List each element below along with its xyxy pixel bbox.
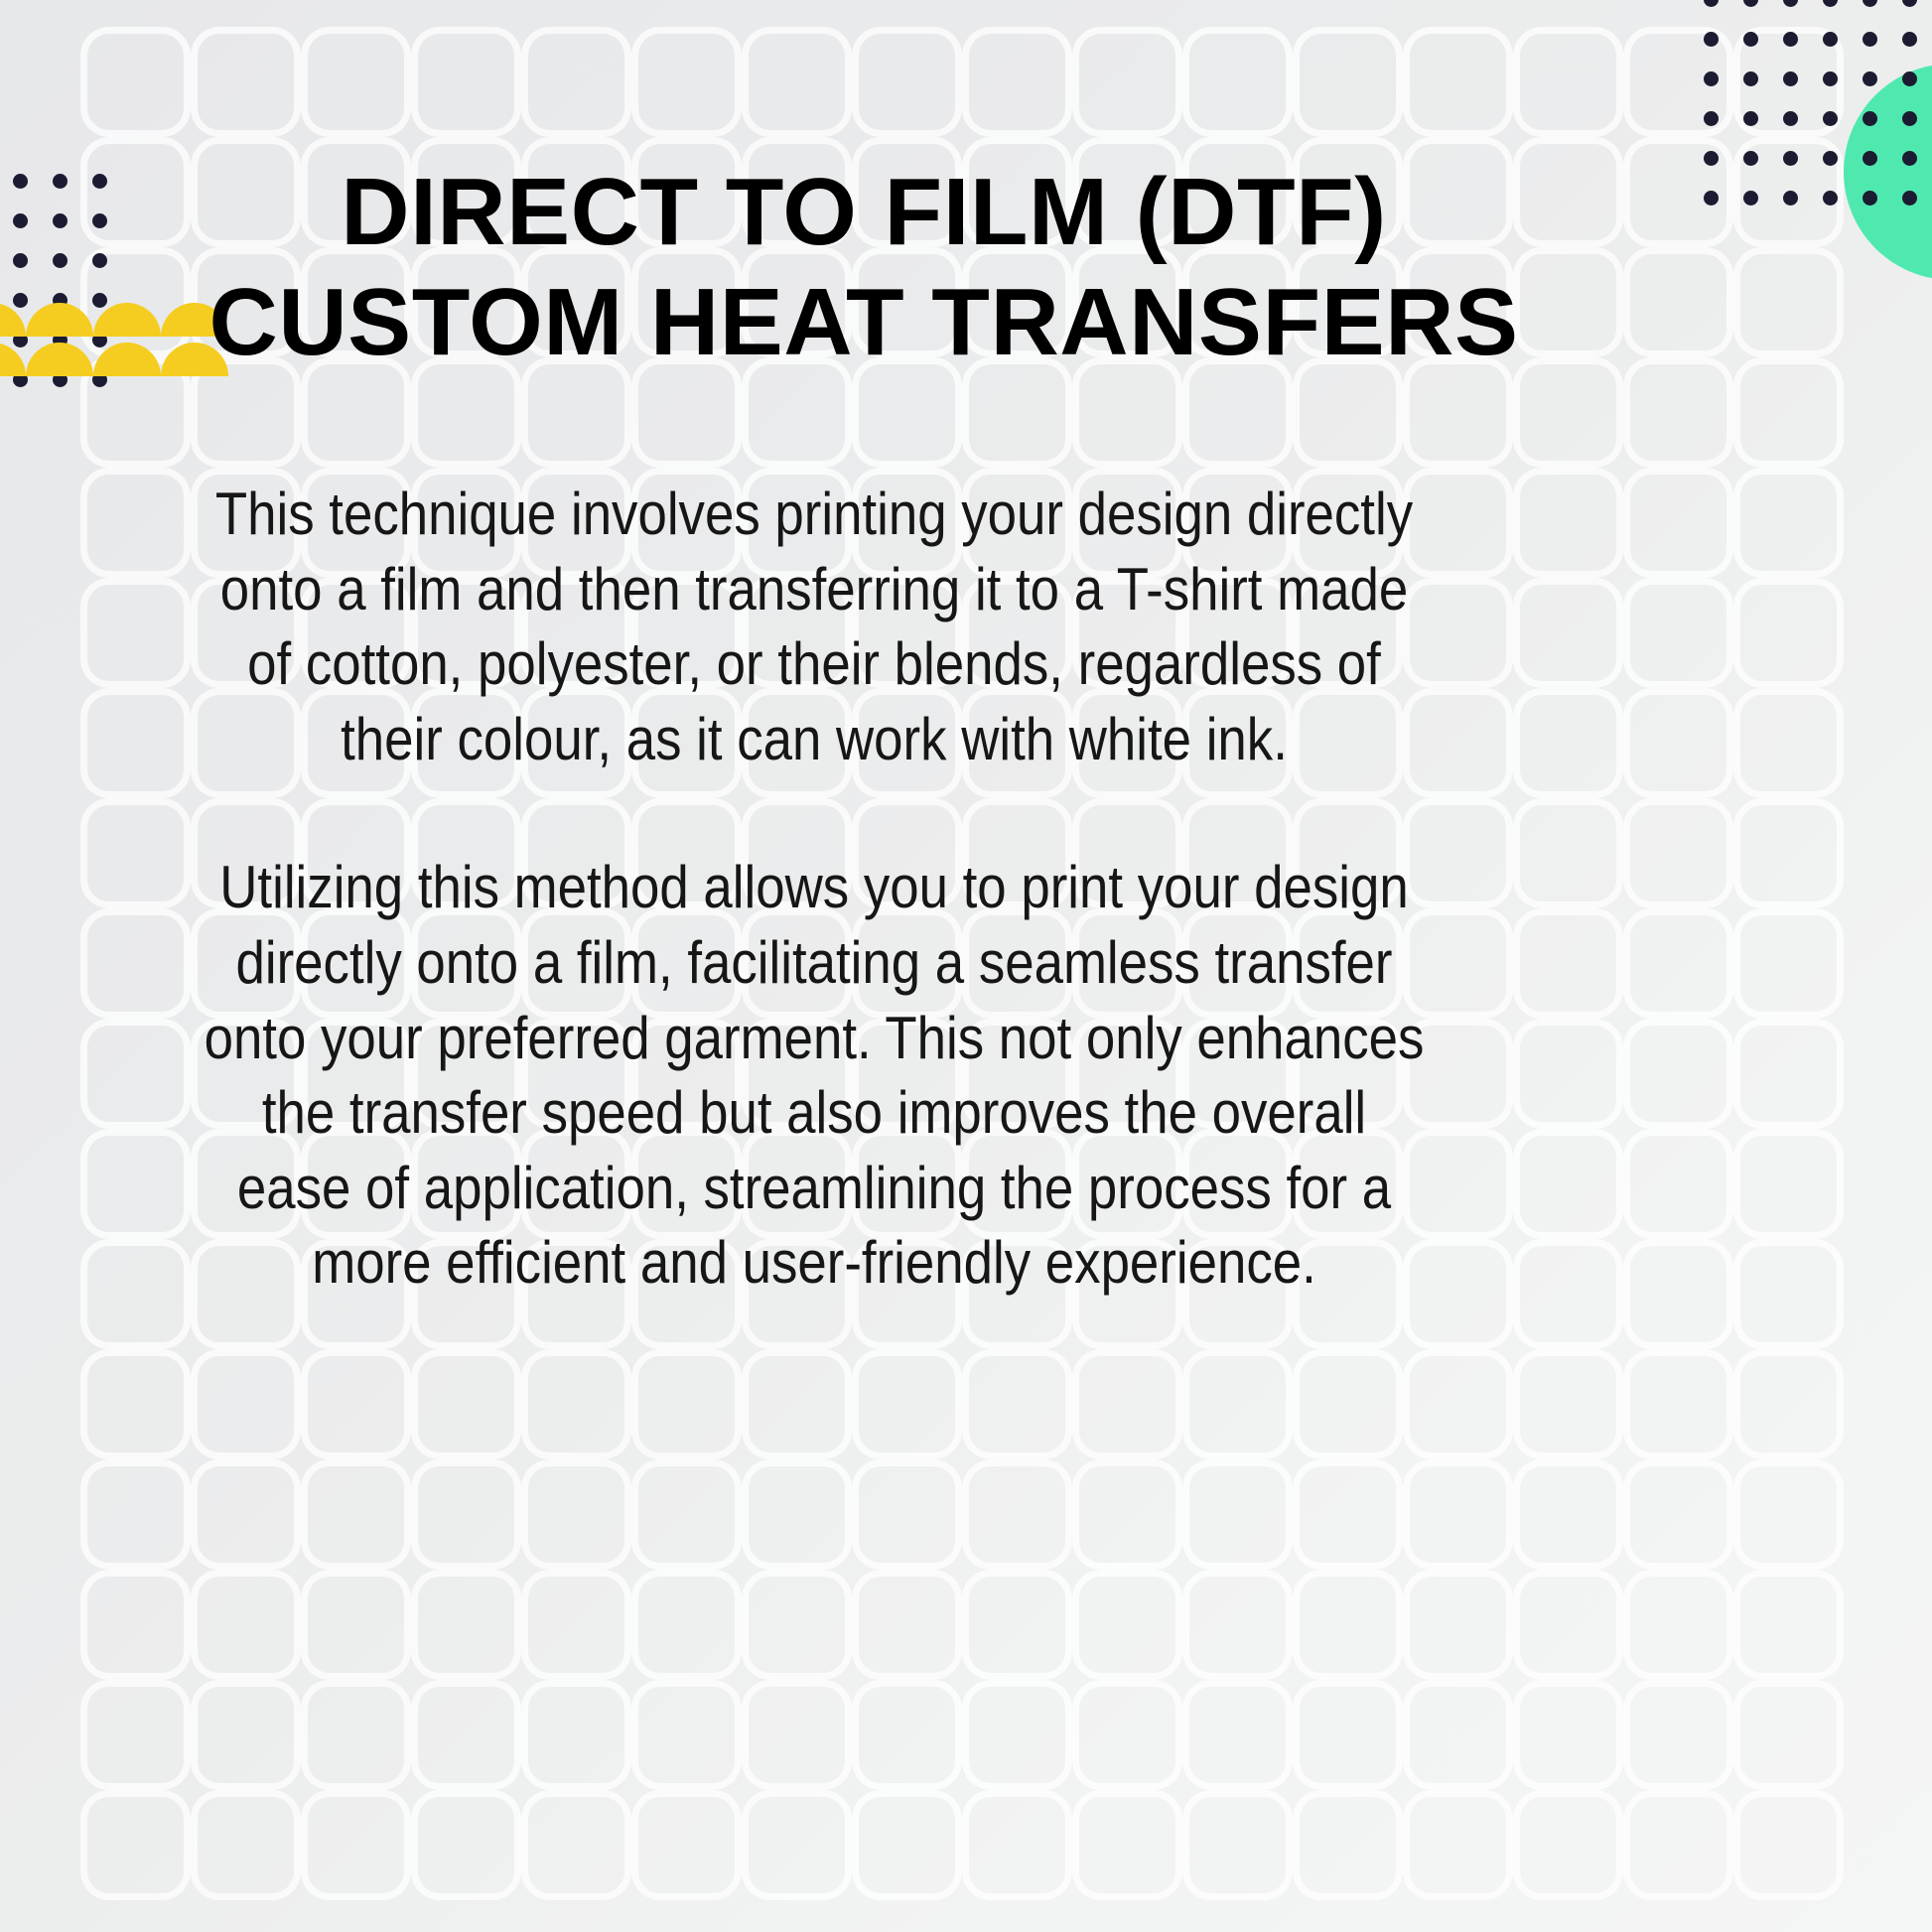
page-title-line-2: CUSTOM HEAT TRANSFERS: [159, 267, 1569, 377]
body-copy: This technique involves printing your de…: [203, 477, 1426, 1301]
poster-content: DIRECT TO FILM (DTF) CUSTOM HEAT TRANSFE…: [0, 0, 1932, 1932]
page-title-line-1: DIRECT TO FILM (DTF): [159, 157, 1569, 267]
body-paragraph-2: Utilizing this method allows you to prin…: [203, 850, 1426, 1301]
poster-canvas: DIRECT TO FILM (DTF) CUSTOM HEAT TRANSFE…: [0, 0, 1932, 1932]
page-title: DIRECT TO FILM (DTF) CUSTOM HEAT TRANSFE…: [159, 157, 1569, 378]
body-paragraph-1: This technique involves printing your de…: [203, 477, 1426, 776]
